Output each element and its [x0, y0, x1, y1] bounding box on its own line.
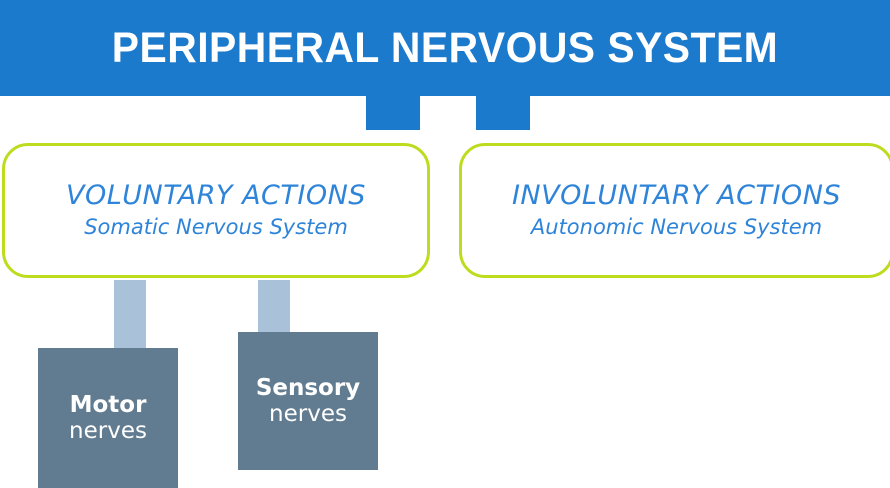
branch-subtitle-voluntary: Somatic Nervous System	[84, 215, 348, 240]
branch-box-involuntary: INVOLUNTARY ACTIONS Autonomic Nervous Sy…	[459, 143, 890, 278]
branch-title-involuntary: INVOLUNTARY ACTIONS	[512, 181, 841, 211]
connector-header-to-involuntary	[476, 96, 530, 130]
diagram-canvas: PERIPHERAL NERVOUS SYSTEM VOLUNTARY ACTI…	[0, 0, 890, 488]
branch-title-voluntary: VOLUNTARY ACTIONS	[66, 181, 366, 211]
nerve-name-motor: Motor	[70, 392, 147, 418]
nerve-box-sensory: Sensory nerves	[238, 332, 378, 470]
nerve-name-sensory: Sensory	[256, 375, 360, 401]
connector-voluntary-to-sensory	[258, 280, 290, 336]
branch-box-voluntary: VOLUNTARY ACTIONS Somatic Nervous System	[2, 143, 430, 278]
nerve-word-sensory: nerves	[269, 401, 347, 427]
branch-subtitle-involuntary: Autonomic Nervous System	[531, 215, 822, 240]
connector-header-to-voluntary	[366, 96, 420, 130]
nerve-box-motor: Motor nerves	[38, 348, 178, 488]
connector-voluntary-to-motor	[114, 280, 146, 350]
nerve-word-motor: nerves	[69, 418, 147, 444]
page-title: PERIPHERAL NERVOUS SYSTEM	[22, 0, 868, 96]
